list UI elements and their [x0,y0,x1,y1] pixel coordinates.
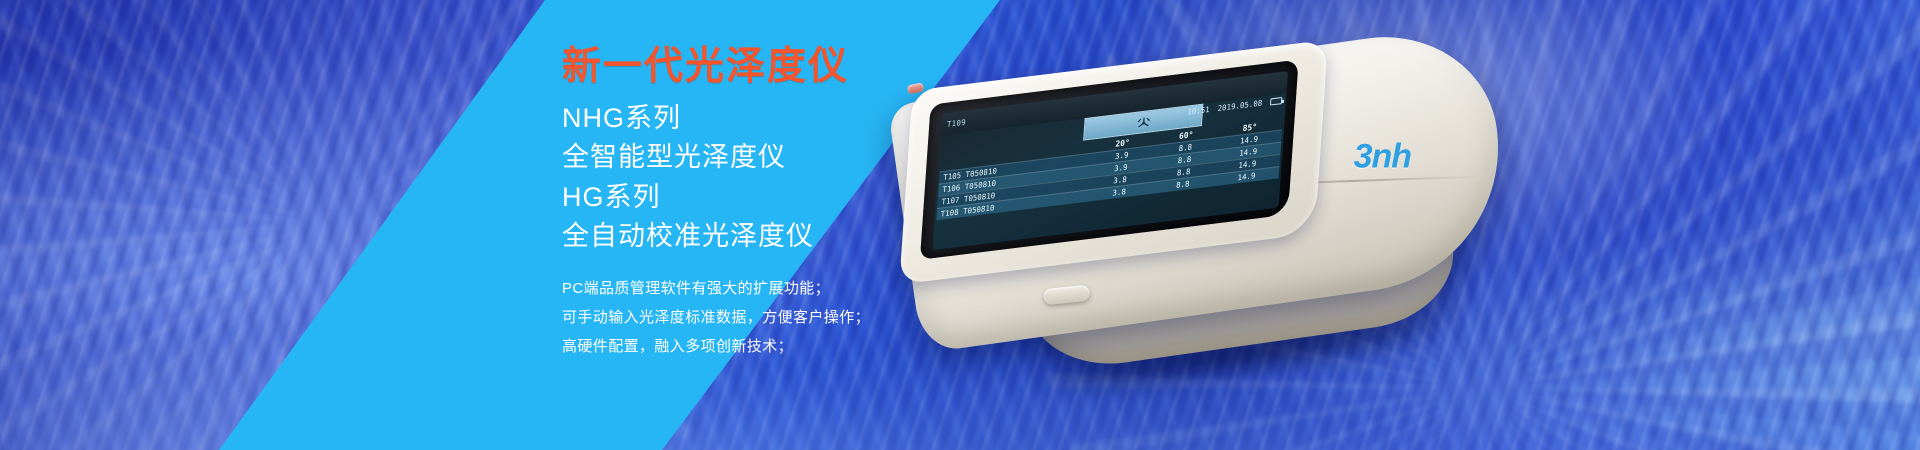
device-indicator-port-icon [907,82,925,94]
battery-icon [1270,97,1282,106]
product-banner: 新一代光泽度仪 NHG系列 全智能型光泽度仪 HG系列 全自动校准光泽度仪 PC… [0,0,1920,450]
lcd-time: 10:51 [1187,105,1210,117]
glossmeter-device: T109 基本模式 10:51 2019.05.08 [865,12,1585,402]
lcd-title: T109 [947,117,967,129]
brand-logo: 3nh [1354,138,1411,177]
measure-icon [1136,116,1150,128]
